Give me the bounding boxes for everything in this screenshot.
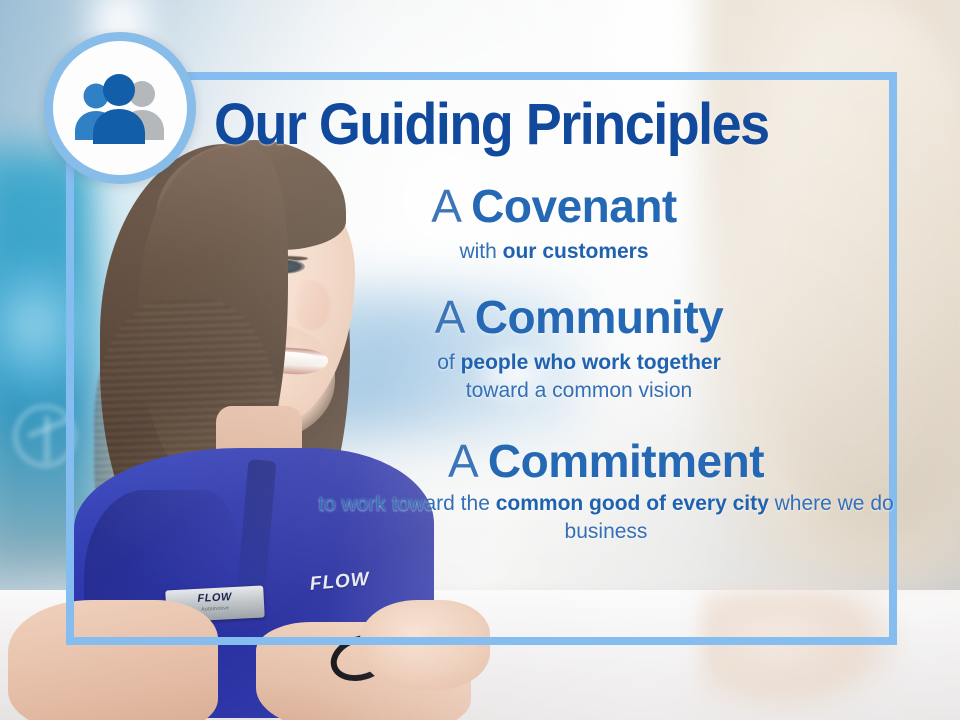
- principle-subtitle: to work toward the common good of every …: [312, 490, 900, 545]
- principle-lead: A: [431, 180, 459, 232]
- principle-keyword: Covenant: [471, 180, 677, 232]
- principle-lead: A: [448, 435, 476, 487]
- people-group-icon: [68, 74, 172, 148]
- principles-list: A Covenant with our customers A Communit…: [200, 182, 900, 552]
- principle-title: A Covenant: [208, 182, 900, 232]
- promotional-graphic: FLOW FLOW Automotive Our Guiding: [0, 0, 960, 720]
- principle-keyword: Commitment: [488, 435, 764, 487]
- principle-item: A Community of people who work togethert…: [258, 293, 900, 404]
- employee-hands: [360, 600, 490, 690]
- principle-keyword: Community: [475, 291, 724, 343]
- page-title: Our Guiding Principles: [214, 96, 828, 154]
- photo-foreground-customer-hand: [700, 589, 900, 714]
- principle-lead: A: [435, 291, 463, 343]
- principle-item: A Commitment to work toward the common g…: [312, 437, 900, 546]
- principle-title: A Commitment: [312, 437, 900, 487]
- principle-subtitle: with our customers: [208, 238, 900, 266]
- principle-title: A Community: [258, 293, 900, 343]
- employee-left-arm: [8, 600, 218, 720]
- people-group-icon-badge: [44, 32, 196, 184]
- principle-subtitle: of people who work togethertoward a comm…: [258, 349, 900, 404]
- principle-item: A Covenant with our customers: [208, 182, 900, 265]
